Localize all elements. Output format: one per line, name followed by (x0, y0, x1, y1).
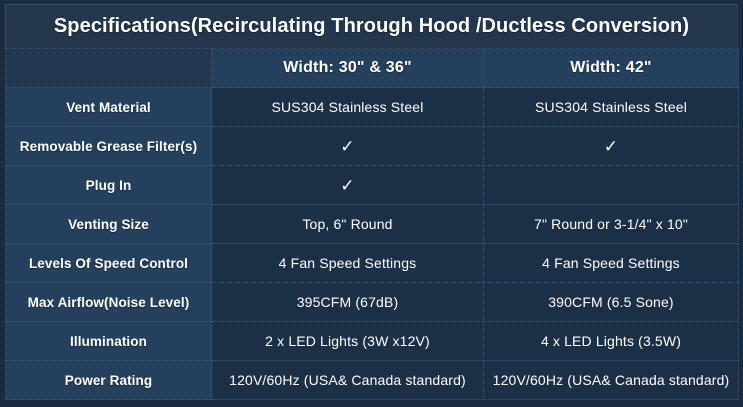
row-label-venting-size: Venting Size (6, 205, 212, 244)
header-cell-blank (6, 49, 212, 88)
row-label-removable-grease-filters: Removable Grease Filter(s) (6, 127, 212, 166)
panel-title-bar: Specifications(Recirculating Through Hoo… (5, 4, 738, 48)
table-row: Power Rating 120V/60Hz (USA& Canada stan… (6, 361, 739, 400)
table-header: Width: 30" & 36" Width: 42" (6, 49, 739, 88)
cell-removable-grease-filters-col2: ✓ (484, 127, 739, 166)
table-body: Vent Material SUS304 Stainless Steel SUS… (6, 88, 739, 400)
cell-max-airflow-col2: 390CFM (6.5 Sone) (484, 283, 739, 322)
table-row: Removable Grease Filter(s) ✓ ✓ (6, 127, 739, 166)
cell-illumination-col1: 2 x LED Lights (3W x12V) (212, 322, 484, 361)
cell-removable-grease-filters-col1: ✓ (212, 127, 484, 166)
cell-power-rating-col1: 120V/60Hz (USA& Canada standard) (212, 361, 484, 400)
row-label-illumination: Illumination (6, 322, 212, 361)
cell-vent-material-col2: SUS304 Stainless Steel (484, 88, 739, 127)
cell-vent-material-col1: SUS304 Stainless Steel (212, 88, 484, 127)
specifications-table: Width: 30" & 36" Width: 42" Vent Materia… (5, 48, 739, 400)
table-row: Vent Material SUS304 Stainless Steel SUS… (6, 88, 739, 127)
table-row: Illumination 2 x LED Lights (3W x12V) 4 … (6, 322, 739, 361)
row-label-vent-material: Vent Material (6, 88, 212, 127)
header-cell-width-30-36: Width: 30" & 36" (212, 49, 484, 88)
cell-max-airflow-col1: 395CFM (67dB) (212, 283, 484, 322)
cell-power-rating-col2: 120V/60Hz (USA& Canada standard) (484, 361, 739, 400)
row-label-power-rating: Power Rating (6, 361, 212, 400)
header-cell-width-42: Width: 42" (484, 49, 739, 88)
page-title: Specifications(Recirculating Through Hoo… (54, 15, 689, 38)
row-label-levels-of-speed-control: Levels Of Speed Control (6, 244, 212, 283)
cell-levels-of-speed-control-col1: 4 Fan Speed Settings (212, 244, 484, 283)
table-row: Levels Of Speed Control 4 Fan Speed Sett… (6, 244, 739, 283)
cell-venting-size-col2: 7" Round or 3-1/4" x 10" (484, 205, 739, 244)
cell-plug-in-col1: ✓ (212, 166, 484, 205)
table-row: Venting Size Top, 6" Round 7" Round or 3… (6, 205, 739, 244)
cell-plug-in-col2 (484, 166, 739, 205)
row-label-max-airflow-noise-level: Max Airflow(Noise Level) (6, 283, 212, 322)
cell-levels-of-speed-control-col2: 4 Fan Speed Settings (484, 244, 739, 283)
table-row: Plug In ✓ (6, 166, 739, 205)
specifications-panel: Specifications(Recirculating Through Hoo… (0, 0, 743, 407)
cell-venting-size-col1: Top, 6" Round (212, 205, 484, 244)
table-header-row: Width: 30" & 36" Width: 42" (6, 49, 739, 88)
cell-illumination-col2: 4 x LED Lights (3.5W) (484, 322, 739, 361)
table-row: Max Airflow(Noise Level) 395CFM (67dB) 3… (6, 283, 739, 322)
row-label-plug-in: Plug In (6, 166, 212, 205)
